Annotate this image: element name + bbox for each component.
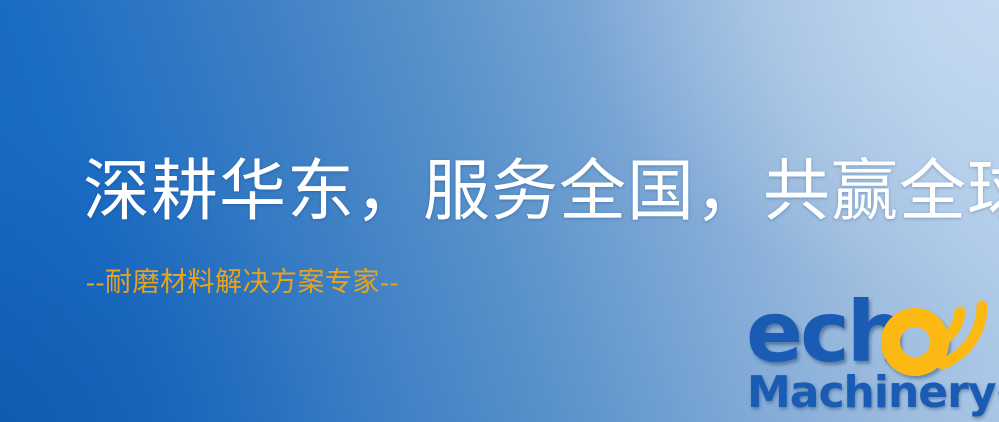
logo-wordmark: ech (744, 296, 999, 376)
company-logo: ech Machinery® (744, 296, 999, 422)
logo-tagline: Machinery® (747, 368, 999, 420)
banner-subtitle: --耐磨材料解决方案专家-- (86, 265, 399, 299)
echo-signal-arcs-icon (926, 282, 999, 366)
logo-wordmark-text: ech (746, 290, 904, 374)
registered-trademark-icon: ® (996, 382, 999, 407)
banner-headline: 深耕华东，服务全国，共赢全球 (83, 152, 999, 232)
promo-banner: 深耕华东，服务全国，共赢全球 --耐磨材料解决方案专家-- ech Machin… (0, 0, 999, 422)
logo-tagline-text: Machinery (747, 367, 996, 418)
